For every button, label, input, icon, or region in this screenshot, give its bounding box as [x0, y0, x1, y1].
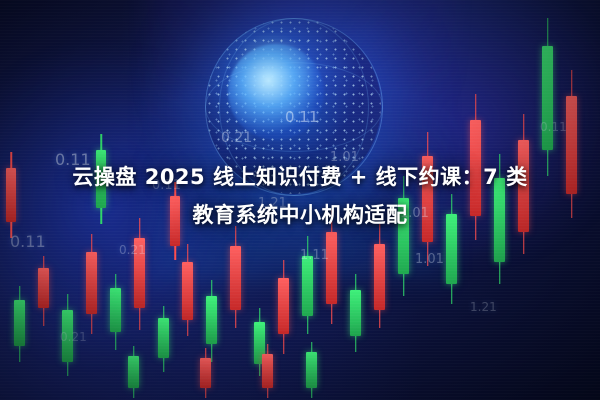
promo-banner-image: 0.110.210.111.010.111.211.010.110.211.11… — [0, 0, 600, 400]
candlestick — [158, 306, 169, 372]
candlestick — [14, 286, 25, 362]
candlestick-body — [128, 356, 139, 388]
floating-number: 1.21 — [470, 300, 497, 314]
candlestick — [350, 274, 361, 352]
candlestick — [262, 344, 273, 398]
floating-number: 1.01 — [415, 252, 444, 267]
candlestick — [230, 226, 241, 328]
candlestick — [200, 348, 211, 398]
candlestick-body — [14, 300, 25, 346]
candlestick-body — [302, 256, 313, 316]
candlestick-body — [38, 268, 49, 308]
candlestick — [374, 224, 385, 328]
candlestick-body — [182, 262, 193, 320]
candlestick-body — [278, 278, 289, 334]
candlestick — [278, 260, 289, 354]
candlestick-body — [350, 290, 361, 336]
candlestick-body — [206, 296, 217, 344]
floating-number: 0.11 — [285, 108, 318, 126]
candlestick-body — [110, 288, 121, 332]
candlestick — [542, 18, 553, 176]
candlestick — [134, 218, 145, 330]
candlestick-body — [262, 354, 273, 388]
candlestick — [86, 234, 97, 334]
candlestick — [128, 346, 139, 398]
candlestick — [110, 274, 121, 350]
candlestick-body — [86, 252, 97, 314]
floating-number: 0.21 — [60, 330, 87, 344]
candlestick-body — [230, 246, 241, 310]
headline-line-2: 教育系统中小机构适配 — [26, 196, 574, 234]
floating-number: 0.21 — [221, 130, 252, 146]
candlestick-body — [542, 46, 553, 150]
candlestick — [182, 244, 193, 336]
floating-number: 1.11 — [300, 248, 329, 263]
candlestick — [306, 342, 317, 398]
floating-number: 0.11 — [10, 232, 46, 251]
headline-line-1: 云操盘 2025 线上知识付费 + 线下约课：7 类 — [26, 158, 574, 196]
floating-number: 0.11 — [540, 120, 567, 134]
floating-number: 0.21 — [119, 243, 146, 257]
candlestick-body — [374, 244, 385, 310]
candlestick — [38, 256, 49, 326]
candlestick-body — [200, 358, 211, 388]
candlestick-body — [306, 352, 317, 388]
candlestick-body — [326, 232, 337, 304]
candlestick-body — [158, 318, 169, 358]
headline-text: 云操盘 2025 线上知识付费 + 线下约课：7 类 教育系统中小机构适配 — [0, 158, 600, 234]
